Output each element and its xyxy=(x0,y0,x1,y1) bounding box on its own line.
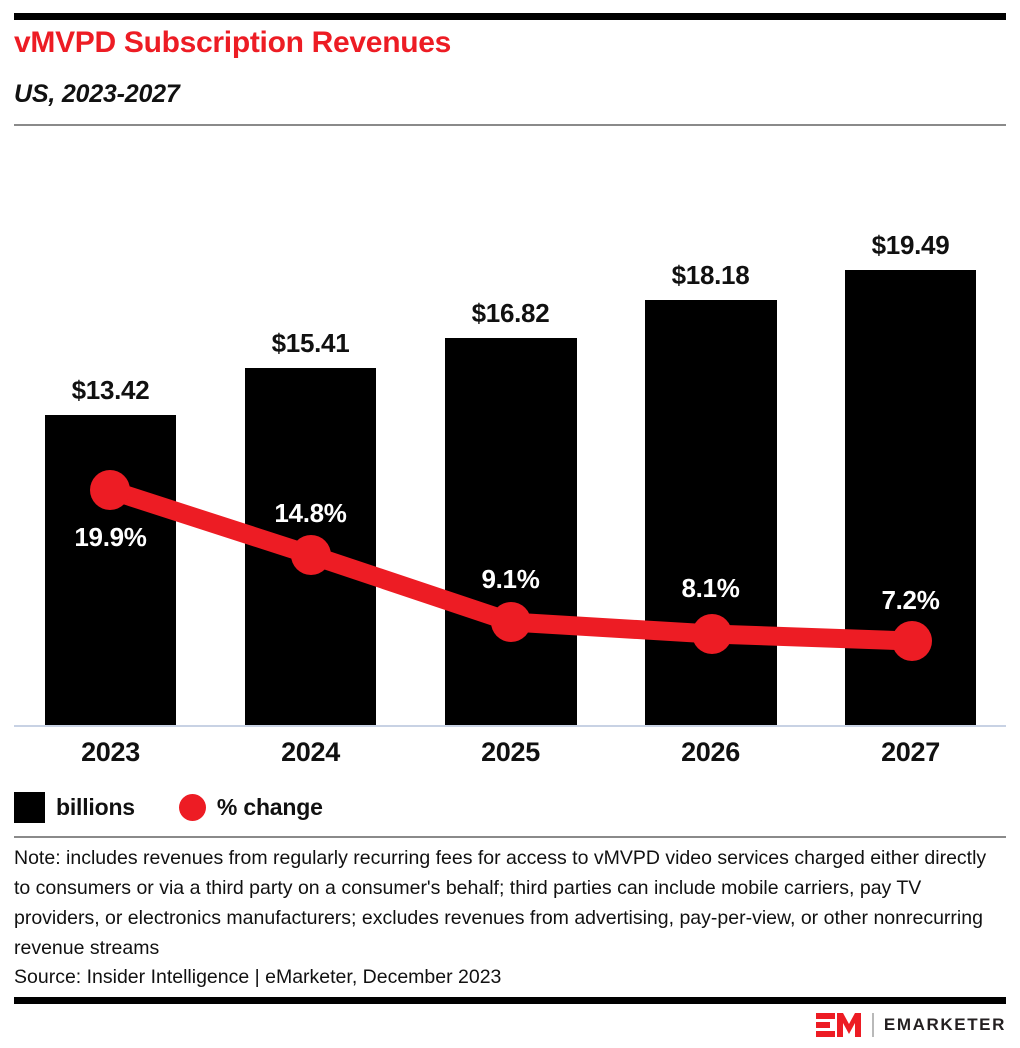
legend-item-billions: billions xyxy=(14,792,135,823)
pct-value-label-2025: 9.1% xyxy=(440,564,581,595)
note-divider xyxy=(14,836,1006,838)
x-tick-2026: 2026 xyxy=(640,737,781,768)
bar-value-label-2024: $15.41 xyxy=(240,328,381,359)
bar-value-label-2025: $16.82 xyxy=(440,298,581,329)
circle-swatch-icon xyxy=(179,794,206,821)
bar-value-label-2023: $13.42 xyxy=(40,375,181,406)
bar-value-label-2027: $19.49 xyxy=(840,230,981,261)
logo-divider xyxy=(872,1013,874,1037)
x-tick-2023: 2023 xyxy=(40,737,181,768)
x-tick-2025: 2025 xyxy=(440,737,581,768)
chart-note: Note: includes revenues from regularly r… xyxy=(14,843,994,963)
emarketer-logo: EMARKETER xyxy=(816,1012,1006,1038)
x-axis-baseline xyxy=(14,725,1006,727)
em-monogram-icon xyxy=(816,1012,862,1038)
chart-source: Source: Insider Intelligence | eMarketer… xyxy=(14,963,501,991)
square-swatch-icon xyxy=(14,792,45,823)
chart-plot-area: $13.42 $15.41 $16.82 $18.18 $19.49 19.9%… xyxy=(0,0,1020,760)
legend-label-percent-change: % change xyxy=(217,794,323,821)
bar-2023 xyxy=(45,415,176,725)
pct-value-label-2024: 14.8% xyxy=(240,498,381,529)
bar-2027 xyxy=(845,270,976,725)
brand-wordmark: EMARKETER xyxy=(884,1015,1006,1035)
pct-value-label-2027: 7.2% xyxy=(840,585,981,616)
bar-value-label-2026: $18.18 xyxy=(640,260,781,291)
legend-label-billions: billions xyxy=(56,794,135,821)
bar-2024 xyxy=(245,368,376,725)
chart-page: vMVPD Subscription Revenues US, 2023-202… xyxy=(0,0,1020,1048)
legend-item-percent-change: % change xyxy=(179,794,323,821)
bar-2025 xyxy=(445,338,577,725)
pct-value-label-2026: 8.1% xyxy=(640,573,781,604)
pct-value-label-2023: 19.9% xyxy=(40,522,181,553)
bar-2026 xyxy=(645,300,777,725)
x-tick-2027: 2027 xyxy=(840,737,981,768)
x-tick-2024: 2024 xyxy=(240,737,381,768)
footer-divider xyxy=(14,997,1006,1004)
chart-legend: billions % change xyxy=(14,790,367,824)
